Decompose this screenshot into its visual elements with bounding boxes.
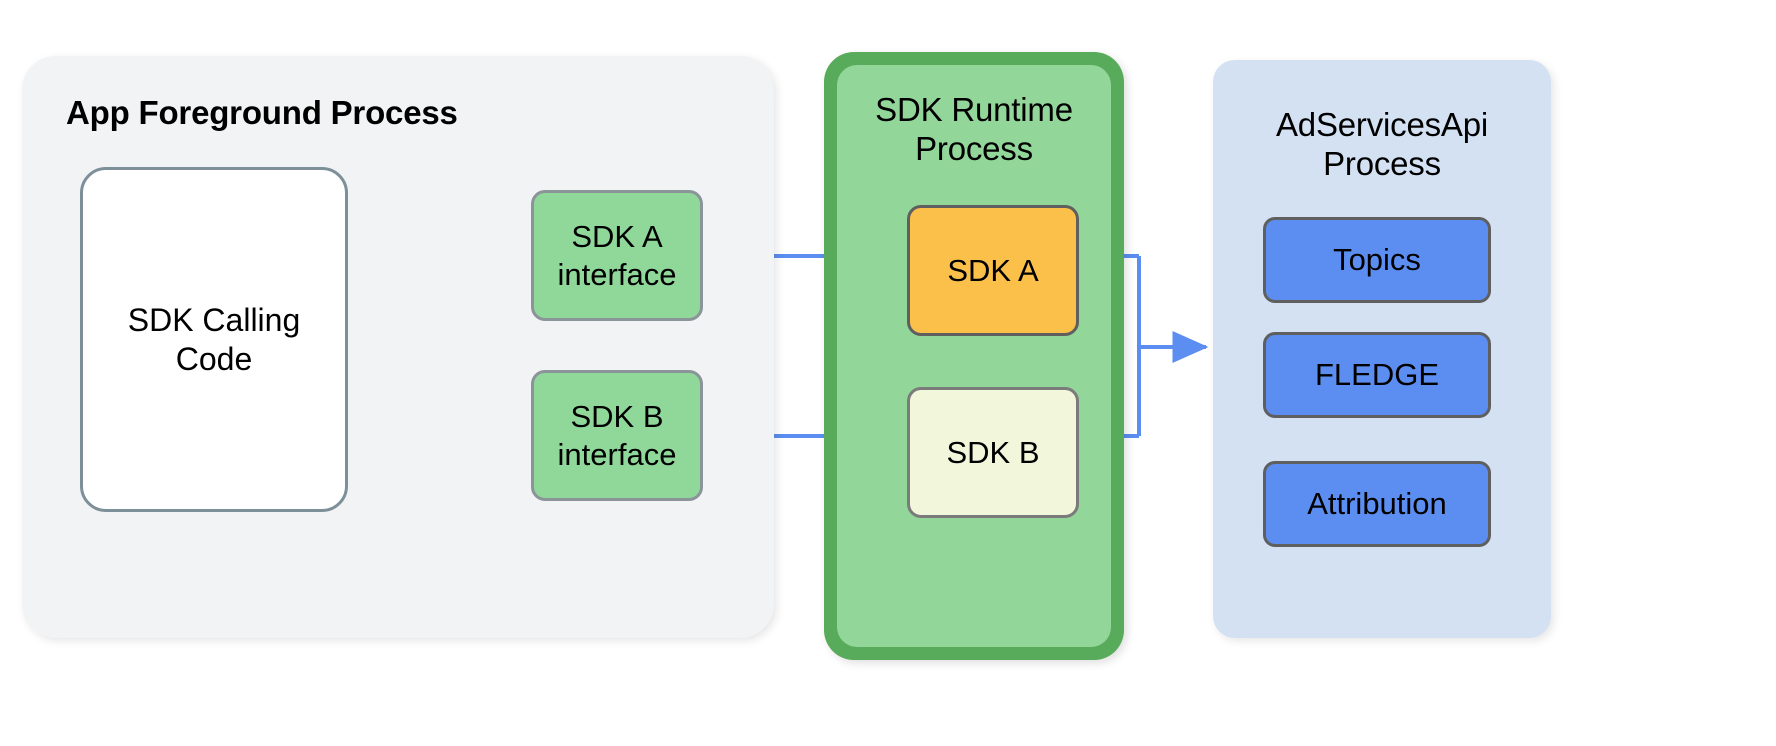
box-sdk-calling-code-line2: Code <box>128 340 301 378</box>
panel-adservices-api-process: AdServicesApi Process Topics FLEDGE Attr… <box>1213 60 1551 638</box>
box-sdk-a-runtime: SDK A <box>907 205 1079 336</box>
box-api-topics: Topics <box>1263 217 1491 303</box>
panel-sdk-runtime-process: SDK Runtime Process SDK A SDK B <box>824 52 1124 660</box>
panel-sdk-runtime-inner: SDK Runtime Process SDK A SDK B <box>837 65 1111 647</box>
box-sdk-b-interface-line1: SDK B <box>558 398 677 435</box>
box-sdk-a-interface-line2: interface <box>558 256 677 293</box>
panel-app-title: App Foreground Process <box>66 94 458 133</box>
panel-sdk-runtime-title: SDK Runtime Process <box>837 91 1111 169</box>
box-sdk-b-interface-line2: interface <box>558 436 677 473</box>
box-sdk-b-runtime: SDK B <box>907 387 1079 518</box>
architecture-diagram: App Foreground Process SDK Calling Code … <box>0 0 1776 746</box>
box-sdk-calling-code: SDK Calling Code <box>80 167 348 512</box>
panel-adservices-title-line1: AdServicesApi <box>1213 106 1551 145</box>
box-api-attribution: Attribution <box>1263 461 1491 547</box>
box-api-fledge: FLEDGE <box>1263 332 1491 418</box>
box-sdk-calling-code-line1: SDK Calling <box>128 301 301 339</box>
panel-sdk-runtime-title-line1: SDK Runtime <box>837 91 1111 130</box>
panel-adservices-title: AdServicesApi Process <box>1213 106 1551 184</box>
box-sdk-b-interface: SDK B interface <box>531 370 703 501</box>
box-sdk-a-interface: SDK A interface <box>531 190 703 321</box>
panel-adservices-title-line2: Process <box>1213 145 1551 184</box>
panel-sdk-runtime-title-line2: Process <box>837 130 1111 169</box>
box-sdk-a-interface-line1: SDK A <box>558 218 677 255</box>
